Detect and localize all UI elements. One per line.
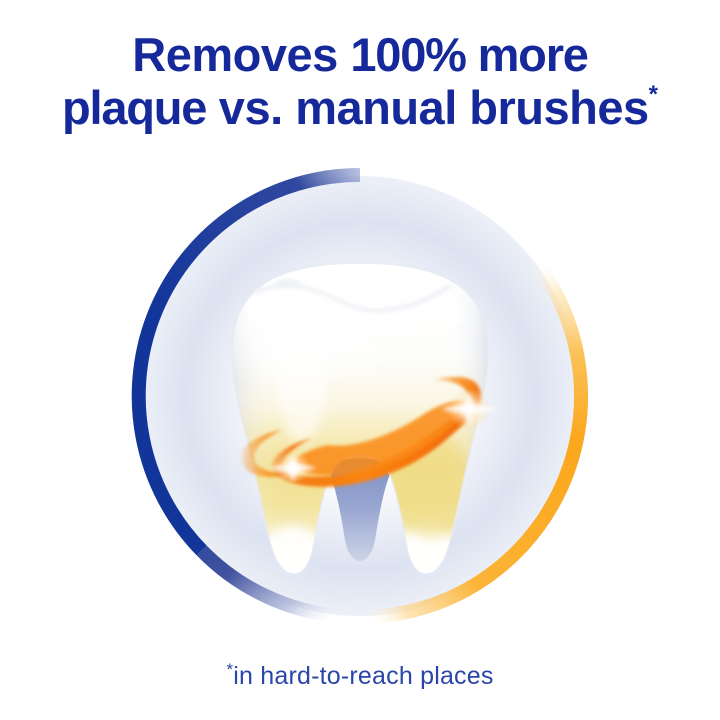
headline: Removes 100% more plaque vs. manual brus… [0, 28, 720, 134]
headline-line-2: plaque vs. manual brushes* [0, 81, 720, 134]
headline-line2-heavy: plaque [62, 81, 206, 134]
headline-line-1: Removes 100% more [0, 28, 720, 81]
ring-arc-blue-lower [202, 551, 360, 618]
ring-arc-orange-lower [360, 467, 569, 617]
gradient-ring [132, 168, 588, 624]
footnote: *in hard-to-reach places [0, 660, 720, 691]
headline-asterisk: * [649, 81, 658, 108]
footnote-text: in hard-to-reach places [233, 662, 493, 690]
headline-line1-heavy: 100% more [350, 28, 587, 81]
tooth-badge [132, 168, 588, 624]
ring-arc-orange-upper [360, 175, 581, 467]
headline-line1-regular: Removes [132, 28, 350, 81]
ring-arc-blue-upper [139, 175, 360, 551]
headline-line2-regular: vs. manual brushes [206, 81, 648, 134]
